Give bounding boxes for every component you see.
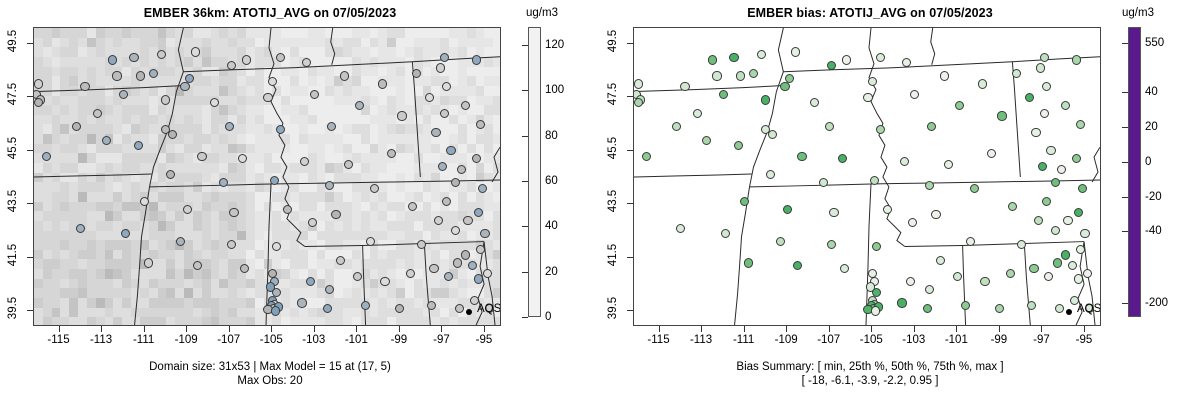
site-marker [1076, 120, 1085, 129]
site-marker [1055, 304, 1064, 313]
aqs-legend-dot-bias [1066, 309, 1072, 315]
site-marker [1046, 146, 1055, 155]
site-marker [923, 304, 932, 313]
site-marker [446, 146, 455, 155]
site-marker [434, 216, 443, 225]
site-marker [900, 157, 909, 166]
x-axis-ticks-model [33, 326, 501, 334]
x-tick-label: -101 [945, 334, 968, 346]
colorbar-tick-label: 60 [545, 175, 558, 187]
site-marker [191, 47, 200, 56]
site-marker [871, 306, 880, 315]
y-tick [627, 310, 633, 311]
x-tick-label: -99 [991, 334, 1008, 346]
y-tick-label: 39.5 [607, 287, 619, 329]
site-marker [734, 141, 743, 150]
x-tick [1041, 326, 1042, 332]
x-tick-label: -109 [175, 334, 198, 346]
site-marker [1061, 250, 1070, 259]
colorbar-tick [522, 226, 528, 227]
site-marker [483, 269, 492, 278]
caption-bias: Bias Summary: [ min, 25th %, 50th %, 75t… [600, 360, 1140, 388]
x-tick [441, 326, 442, 332]
site-marker [149, 69, 158, 78]
y-axis-labels-bias: 49.547.545.543.541.539.5 [600, 27, 626, 326]
caption-bias-line2: [ -18, -6.1, -3.9, -2.2, 0.95 ] [600, 374, 1140, 388]
x-tick-label: -107 [217, 334, 240, 346]
colorbar-tick-label: 20 [545, 266, 558, 278]
site-marker [708, 55, 717, 64]
y-tick [27, 257, 33, 258]
site-marker [136, 71, 145, 80]
x-tick [144, 326, 145, 332]
site-marker [680, 82, 689, 91]
y-tick [27, 150, 33, 151]
x-tick-label: -103 [302, 334, 325, 346]
colorbar-tick [1122, 43, 1128, 44]
x-tick [356, 326, 357, 332]
site-marker [397, 111, 406, 120]
y-tick-label: 47.5 [607, 73, 619, 115]
colorbar-tick [1122, 127, 1128, 128]
y-tick-label: 47.5 [7, 73, 19, 115]
site-marker [436, 63, 445, 72]
page-title-bias: EMBER bias: ATOTIJ_AVG on 07/05/2023 [600, 6, 1140, 20]
colorbar-tick [522, 272, 528, 273]
x-axis-ticks-bias [633, 326, 1101, 334]
site-marker [353, 272, 362, 281]
x-tick-label: -107 [817, 334, 840, 346]
x-tick [271, 326, 272, 332]
site-marker [870, 176, 879, 185]
colorbar-tick [522, 136, 528, 137]
site-marker [868, 77, 877, 86]
colorbar-gradient-bias [1128, 27, 1141, 317]
site-marker [271, 306, 280, 315]
site-marker [780, 82, 789, 91]
colorbar-tick-label: 40 [1145, 86, 1158, 98]
y-tick-label: 45.5 [7, 127, 19, 169]
site-marker [1083, 269, 1092, 278]
y-tick [27, 43, 33, 44]
colorbar-tick [522, 317, 528, 318]
site-marker [1029, 264, 1038, 273]
site-marker [463, 216, 472, 225]
colorbar-gradient-model [528, 27, 541, 317]
x-tick-label: -111 [733, 334, 754, 346]
site-marker [1063, 216, 1072, 225]
site-marker [134, 141, 143, 150]
site-marker [1034, 216, 1043, 225]
y-tick [27, 310, 33, 311]
x-tick-label: -115 [47, 334, 69, 346]
site-marker [1068, 261, 1077, 270]
y-tick-label: 43.5 [607, 180, 619, 222]
x-tick-label: -105 [860, 334, 883, 346]
site-marker [980, 277, 989, 286]
site-marker [129, 53, 138, 62]
x-tick [786, 326, 787, 332]
x-tick [399, 326, 400, 332]
site-marker [297, 298, 306, 307]
colorbar-tick-label: -200 [1145, 297, 1168, 309]
site-marker [270, 176, 279, 185]
x-tick [484, 326, 485, 332]
site-marker [953, 272, 962, 281]
state-boundaries-bias [634, 28, 1100, 325]
y-tick-label: 49.5 [607, 20, 619, 62]
site-marker [42, 152, 51, 161]
site-marker [1074, 274, 1083, 283]
x-tick [186, 326, 187, 332]
colorbar-tick [1122, 231, 1128, 232]
x-axis-labels-model: -115-113-111-109-107-105-103-101-99-97-9… [33, 334, 501, 352]
page-title-model: EMBER 36km: ATOTIJ_AVG on 07/05/2023 [0, 6, 540, 20]
site-marker [1040, 53, 1049, 62]
x-tick [314, 326, 315, 332]
bias-map-plot-area[interactable]: AQS [633, 27, 1101, 326]
colorbar-tick-label: 120 [545, 39, 564, 51]
site-marker [1017, 240, 1026, 249]
site-marker [180, 82, 189, 91]
colorbar-tick [1122, 162, 1128, 163]
site-marker [440, 53, 449, 62]
site-marker [263, 93, 272, 102]
site-marker [183, 205, 192, 214]
site-marker [966, 237, 975, 246]
site-marker [472, 55, 481, 64]
site-marker [380, 277, 389, 286]
caption-model-line2: Max Obs: 20 [0, 374, 540, 388]
x-axis-labels-bias: -115-113-111-109-107-105-103-101-99-97-9… [633, 334, 1101, 352]
site-marker [897, 298, 906, 307]
colorbar-tick [522, 181, 528, 182]
site-marker [34, 79, 43, 88]
colorbar-tick-label: 0 [1145, 156, 1151, 168]
caption-model: Domain size: 31x53 | Max Model = 15 at (… [0, 360, 540, 388]
x-tick [914, 326, 915, 332]
colorbar-tick [1122, 92, 1128, 93]
site-marker [970, 184, 979, 193]
site-marker [417, 240, 426, 249]
site-marker [108, 55, 117, 64]
site-marker [480, 229, 489, 238]
x-tick-label: -113 [90, 334, 112, 346]
site-marker [268, 77, 277, 86]
site-marker [744, 258, 753, 267]
panel-model-map: EMBER 36km: ATOTIJ_AVG on 07/05/2023 [0, 0, 600, 409]
colorbar-tick [522, 90, 528, 91]
y-tick-label: 49.5 [7, 20, 19, 62]
colorbar-tick [1122, 303, 1128, 304]
x-tick-label: -97 [433, 334, 450, 346]
y-tick [627, 96, 633, 97]
colorbar-tick-label: 100 [545, 84, 564, 96]
site-marker [791, 47, 800, 56]
y-tick [27, 96, 33, 97]
model-map-plot-area[interactable]: AQS [33, 27, 501, 326]
site-marker [429, 264, 438, 273]
caption-model-line1: Domain size: 31x53 | Max Model = 15 at (… [0, 360, 540, 374]
site-marker [712, 71, 721, 80]
x-tick-label: -95 [1076, 334, 1093, 346]
site-marker [749, 69, 758, 78]
site-marker [144, 258, 153, 267]
site-marker [797, 152, 806, 161]
colorbar-tick-label: 550 [1145, 37, 1164, 49]
site-marker [997, 111, 1006, 120]
y-tick [627, 43, 633, 44]
aqs-legend-label-model: AQS [477, 303, 501, 315]
site-marker [829, 208, 838, 217]
site-marker [634, 79, 643, 88]
site-marker [736, 71, 745, 80]
site-marker [955, 101, 964, 110]
x-tick [229, 326, 230, 332]
site-marker [340, 71, 349, 80]
x-tick [744, 326, 745, 332]
x-tick [999, 326, 1000, 332]
site-marker [474, 208, 483, 217]
colorbar-title-model: ug/m3 [526, 7, 558, 19]
caption-bias-line1: Bias Summary: [ min, 25th %, 50th %, 75t… [600, 360, 1140, 374]
site-marker [476, 120, 485, 129]
site-marker [468, 261, 477, 270]
site-marker [355, 101, 364, 110]
y-tick-label: 41.5 [607, 234, 619, 276]
site-marker [283, 205, 292, 214]
site-marker [300, 157, 309, 166]
site-marker [1074, 208, 1083, 217]
y-axis-labels-model: 49.547.545.543.541.539.5 [0, 27, 26, 326]
x-tick-label: -97 [1033, 334, 1050, 346]
colorbar-tick-label: -20 [1145, 191, 1162, 203]
site-marker [729, 53, 738, 62]
colorbar-tick-label: -40 [1145, 225, 1162, 237]
x-tick-label: -109 [775, 334, 798, 346]
site-marker [80, 82, 89, 91]
aqs-legend-label-bias: AQS [1077, 303, 1101, 315]
y-tick [627, 203, 633, 204]
panel-bias-map: EMBER bias: ATOTIJ_AVG on 07/05/2023 [600, 0, 1200, 409]
colorbar-tick-label: 20 [1145, 121, 1158, 133]
x-tick [829, 326, 830, 332]
site-marker [840, 264, 849, 273]
site-marker [455, 304, 464, 313]
x-tick-label: -103 [902, 334, 925, 346]
y-tick [27, 203, 33, 204]
x-tick-label: -99 [391, 334, 408, 346]
site-marker [370, 184, 379, 193]
colorbar-tick [522, 45, 528, 46]
site-marker [461, 250, 470, 259]
site-marker [474, 274, 483, 283]
y-axis-ticks-model [26, 27, 34, 326]
site-marker [863, 93, 872, 102]
site-marker [366, 237, 375, 246]
y-tick [627, 257, 633, 258]
site-marker [387, 149, 396, 158]
y-axis-ticks-bias [626, 27, 634, 326]
x-tick-label: -105 [260, 334, 283, 346]
site-marker [240, 264, 249, 273]
x-tick-label: -101 [345, 334, 368, 346]
x-tick [1084, 326, 1085, 332]
site-marker [783, 205, 792, 214]
colorbar-tick-label: 40 [545, 220, 558, 232]
site-marker [987, 149, 996, 158]
site-marker [842, 55, 851, 64]
state-boundaries-model [34, 28, 500, 325]
x-tick-label: -111 [133, 334, 154, 346]
site-marker [1080, 229, 1089, 238]
site-marker [197, 152, 206, 161]
colorbar-title-bias: ug/m3 [1122, 7, 1154, 19]
x-tick [871, 326, 872, 332]
x-tick [101, 326, 102, 332]
site-marker [642, 152, 651, 161]
colorbar-tick-label: 0 [545, 311, 551, 323]
x-tick [701, 326, 702, 332]
y-tick [627, 150, 633, 151]
site-marker [431, 128, 440, 137]
y-tick-label: 39.5 [7, 287, 19, 329]
y-tick-label: 43.5 [7, 180, 19, 222]
site-marker [1053, 258, 1062, 267]
x-tick [59, 326, 60, 332]
site-marker [453, 258, 462, 267]
site-marker [1036, 63, 1045, 72]
site-marker [242, 55, 251, 64]
site-marker [229, 208, 238, 217]
site-marker [702, 136, 711, 145]
site-marker [323, 304, 332, 313]
site-marker [102, 136, 111, 145]
site-marker [940, 71, 949, 80]
colorbar-tick [1122, 197, 1128, 198]
site-marker [883, 205, 892, 214]
aqs-legend-dot-model [466, 309, 472, 315]
colorbar-tick-label: 80 [545, 130, 558, 142]
y-tick-label: 41.5 [7, 234, 19, 276]
site-marker [112, 71, 121, 80]
x-tick-label: -115 [647, 334, 669, 346]
site-marker [336, 256, 345, 265]
x-tick-label: -95 [476, 334, 493, 346]
x-tick-label: -113 [690, 334, 712, 346]
x-tick [956, 326, 957, 332]
site-marker [1072, 55, 1081, 64]
y-tick-label: 45.5 [607, 127, 619, 169]
x-tick [659, 326, 660, 332]
figure-root: EMBER 36km: ATOTIJ_AVG on 07/05/2023 [0, 0, 1200, 409]
site-marker [936, 256, 945, 265]
site-marker [1031, 128, 1040, 137]
